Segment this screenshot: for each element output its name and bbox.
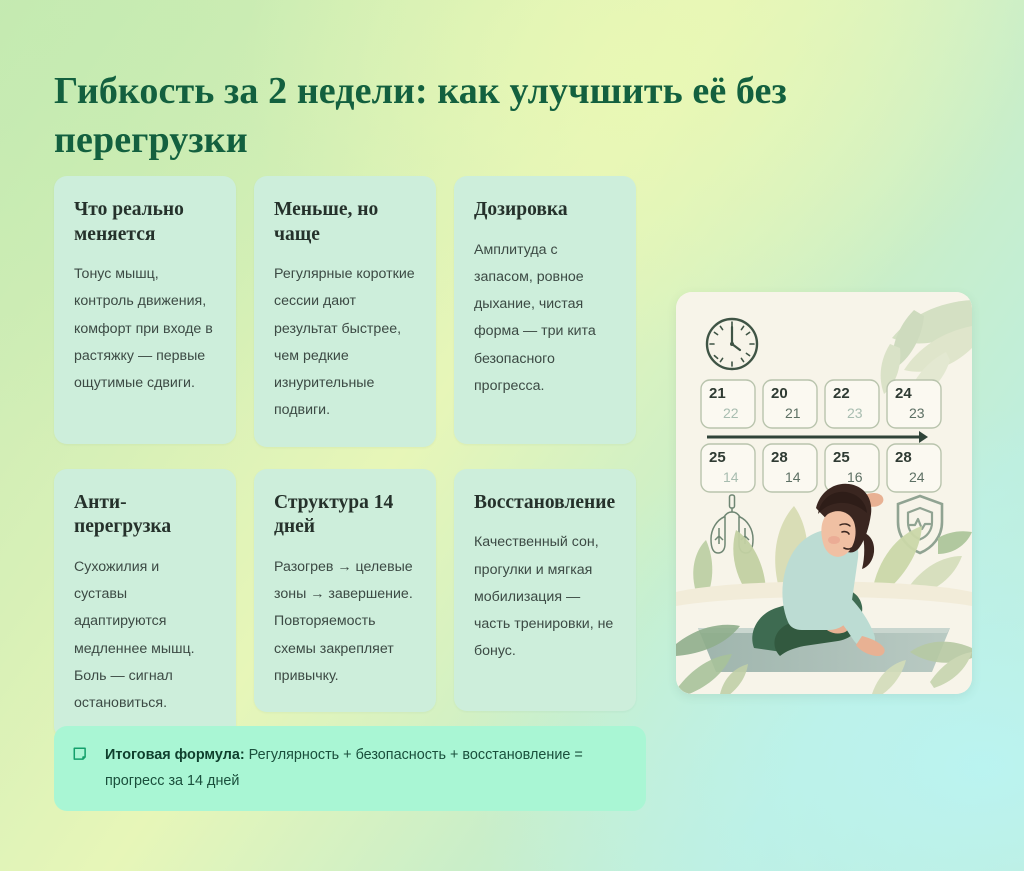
summary-label: Итоговая формула: — [105, 747, 245, 763]
cell-top: 21 — [709, 385, 726, 402]
calendar-cell: 21 22 — [701, 380, 755, 428]
note-icon — [72, 746, 91, 765]
cell-top: 25 — [833, 449, 850, 466]
card-body: Амплитуда с запасом, ровное дыхание, чис… — [474, 237, 616, 401]
calendar-cell: 20 21 — [763, 380, 817, 428]
summary-banner: Итоговая формула: Регулярность + безопас… — [54, 726, 646, 811]
cell-bottom: 22 — [723, 405, 739, 421]
infographic-poster: Гибкость за 2 недели: как улучшить её бе… — [0, 0, 1024, 871]
cell-top: 28 — [895, 449, 912, 466]
cell-bottom: 14 — [785, 469, 801, 485]
card-anti-overload: Анти-перегрузка Сухожилия и суставы адап… — [54, 469, 236, 740]
card-less-but-often: Меньше, но чаще Регулярные короткие сесс… — [254, 176, 436, 447]
summary-text: Итоговая формула: Регулярность + безопас… — [105, 743, 626, 794]
card-title: Анти-перегрузка — [74, 491, 216, 540]
card-recovery: Восстановление Качественный сон, прогулк… — [454, 469, 636, 711]
card-dosage: Дозировка Амплитуда с запасом, ровное ды… — [454, 176, 636, 444]
page-title: Гибкость за 2 недели: как улучшить её бе… — [54, 67, 934, 164]
cards-grid: Что реально меняется Тонус мышц, контрол… — [54, 176, 646, 739]
cell-top: 20 — [771, 385, 788, 402]
card-title: Дозировка — [474, 198, 616, 223]
cell-top: 24 — [895, 385, 912, 402]
card-body: Регулярные короткие сессии дают результа… — [274, 261, 416, 425]
card-body: Сухожилия и суставы адаптируются медленн… — [74, 554, 216, 718]
card-what-changes: Что реально меняется Тонус мышц, контрол… — [54, 176, 236, 444]
cell-bottom: 21 — [785, 405, 801, 421]
card-body: Качественный сон, прогулки и мягкая моби… — [474, 529, 616, 665]
card-title: Структура 14 дней — [274, 491, 416, 540]
cell-bottom: 16 — [847, 469, 863, 485]
illustration-panel: 21 22 20 21 22 23 24 — [676, 292, 972, 694]
calendar-cell: 28 14 — [763, 444, 817, 492]
calendar-cell: 22 23 — [825, 380, 879, 428]
cell-top: 28 — [771, 449, 788, 466]
cell-top: 25 — [709, 449, 726, 466]
card-body: Разогрев → целевые зоны → завершение. По… — [274, 554, 416, 690]
illustration-svg: 21 22 20 21 22 23 24 — [676, 292, 972, 694]
card-body: Тонус мышц, контроль движения, комфорт п… — [74, 261, 216, 397]
card-structure-14-days: Структура 14 дней Разогрев → целевые зон… — [254, 469, 436, 712]
calendar-cell: 28 24 — [887, 444, 941, 492]
cell-bottom: 24 — [909, 469, 925, 485]
cell-bottom: 23 — [847, 405, 863, 421]
calendar-cell: 25 14 — [701, 444, 755, 492]
card-title: Восстановление — [474, 491, 616, 516]
clock-icon — [707, 319, 757, 369]
cell-bottom: 14 — [723, 469, 739, 485]
calendar-cell: 24 23 — [887, 380, 941, 428]
card-title: Что реально меняется — [74, 198, 216, 247]
cell-top: 22 — [833, 385, 850, 402]
card-title: Меньше, но чаще — [274, 198, 416, 247]
cell-bottom: 23 — [909, 405, 925, 421]
